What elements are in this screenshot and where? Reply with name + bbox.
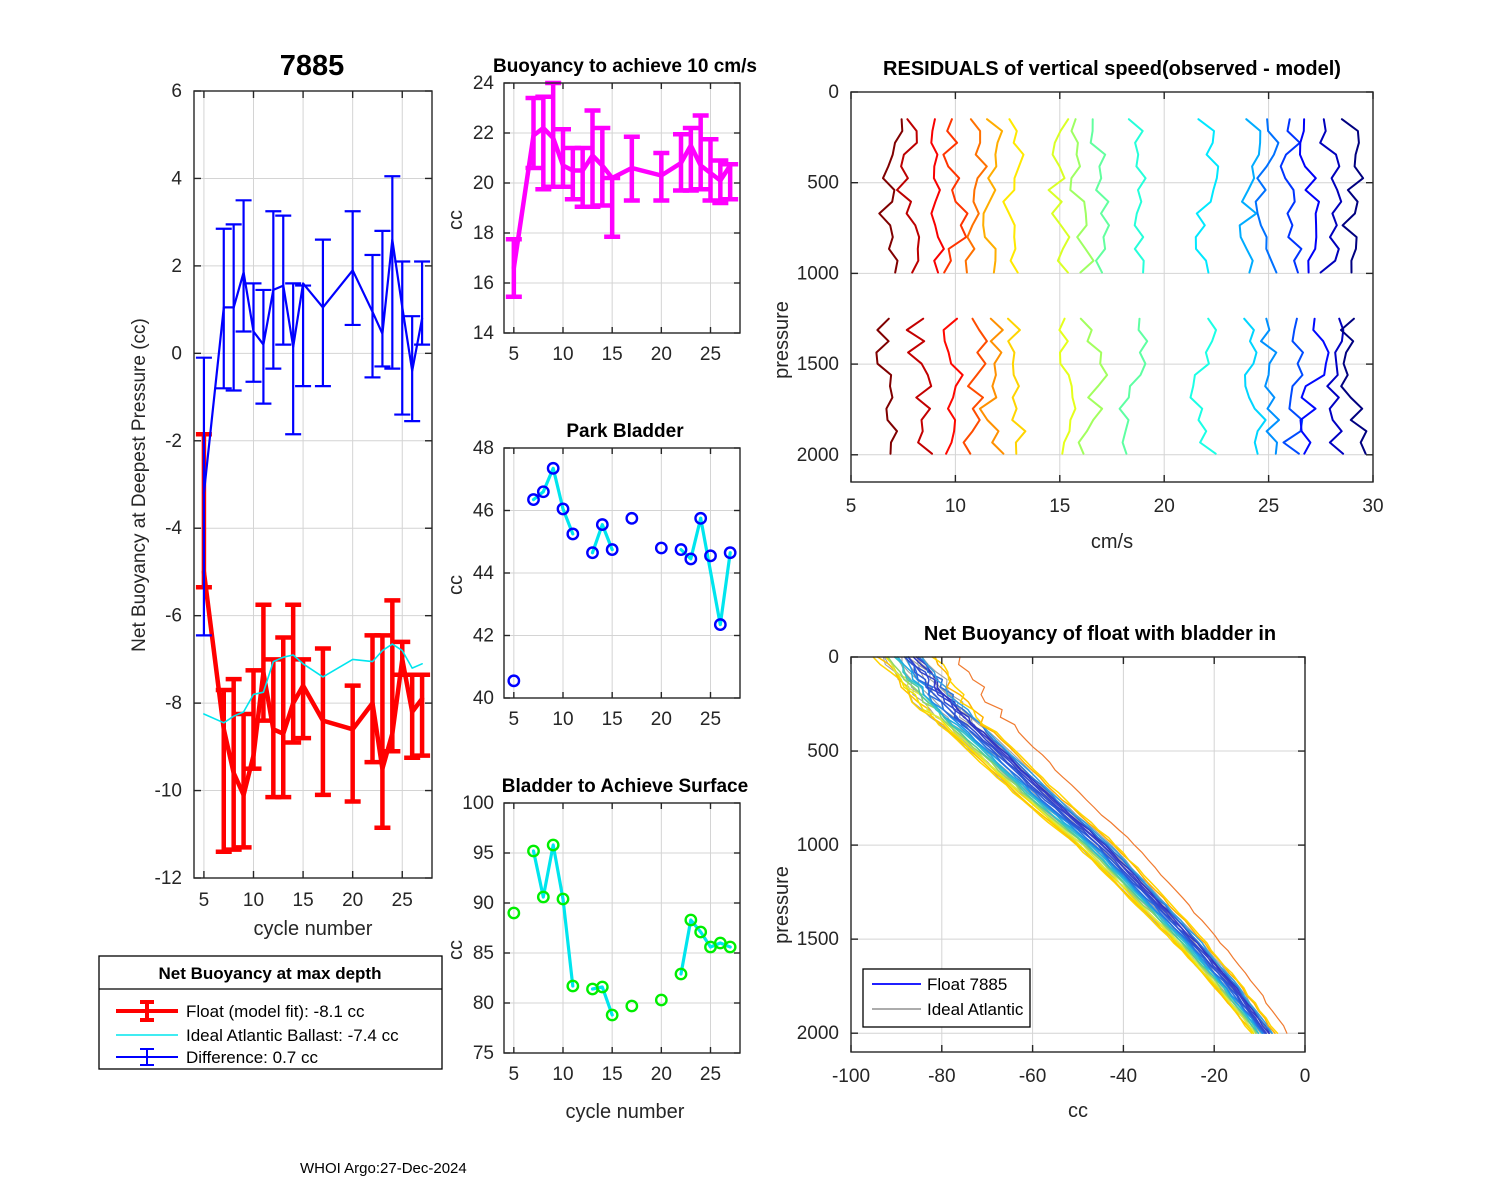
residual-profile-descent	[1003, 119, 1023, 272]
svg-text:25: 25	[700, 1064, 721, 1085]
errorbar-difference	[374, 231, 390, 367]
legend-title: Net Buoyancy at max depth	[159, 964, 382, 983]
line-float-model-fit	[204, 572, 422, 795]
panel-net-buoyancy-bladder-in: Net Buoyancy of float with bladder in -1…	[760, 615, 1420, 1145]
residual-profile-ascent	[964, 319, 987, 454]
panel-net-buoyancy-deepest: 7885 510152025-12-10-8-6-4-20246 cycle n…	[0, 0, 460, 1100]
svg-text:10: 10	[243, 890, 264, 911]
panel-buoyancy-10cms: Buoyancy to achieve 10 cm/s 510152025141…	[440, 50, 770, 390]
svg-text:40: 40	[473, 688, 494, 709]
residual-profile-ascent	[907, 319, 932, 454]
svg-text:-100: -100	[832, 1066, 870, 1087]
panel-residuals: RESIDUALS of vertical speed(observed - m…	[760, 50, 1420, 570]
svg-text:-10: -10	[155, 781, 182, 802]
svg-text:42: 42	[473, 626, 494, 647]
svg-text:44: 44	[473, 563, 495, 584]
legend-label-nb-1: Ideal Atlantic	[927, 1000, 1024, 1019]
residual-profile-descent	[1240, 119, 1261, 272]
svg-text:16: 16	[473, 273, 494, 294]
title-park-bladder: Park Bladder	[566, 421, 684, 442]
title-net-buoyancy-bladder-in: Net Buoyancy of float with bladder in	[924, 623, 1276, 645]
svg-text:500: 500	[807, 741, 839, 762]
residual-profile-descent	[1300, 119, 1319, 272]
svg-text:100: 100	[462, 793, 494, 814]
svg-text:5: 5	[509, 344, 520, 365]
legend-label-difference: Difference: 0.7 cc	[186, 1048, 318, 1067]
errorbar-difference	[315, 240, 331, 386]
svg-text:-2: -2	[165, 431, 182, 452]
panel-bladder-surface: Bladder to Achieve Surface 5101520257580…	[440, 770, 770, 1140]
errorbar-buoyancy	[555, 129, 571, 187]
svg-text:-20: -20	[1200, 1066, 1227, 1087]
legend-net-buoyancy-max-depth: Net Buoyancy at max depth Float (model f…	[98, 955, 443, 1070]
svg-text:6: 6	[171, 81, 182, 102]
svg-text:10: 10	[552, 344, 573, 365]
svg-text:-4: -4	[165, 518, 182, 539]
x-axis-label-residuals: cm/s	[1091, 531, 1133, 553]
title-bladder-surface: Bladder to Achieve Surface	[502, 776, 748, 797]
data-point-park_bladder	[627, 513, 637, 523]
legend-label-float: Float (model fit): -8.1 cc	[186, 1002, 365, 1021]
residual-profile-ascent	[1284, 319, 1304, 454]
residual-profile-ascent	[980, 319, 1004, 454]
svg-text:4: 4	[171, 168, 182, 189]
residual-profile-descent	[983, 119, 1002, 272]
svg-text:10: 10	[552, 709, 573, 730]
residual-profile-ascent	[1301, 319, 1329, 454]
svg-text:-6: -6	[165, 606, 182, 627]
y-axis-label-residuals: pressure	[771, 301, 793, 379]
residual-profile-descent	[1196, 119, 1218, 272]
svg-text:22: 22	[473, 123, 494, 144]
y-axis-label-nb: pressure	[771, 866, 793, 944]
residual-profile-ascent	[1059, 319, 1075, 454]
svg-text:85: 85	[473, 943, 494, 964]
y-axis-label-left: Net Buoyancy at Deepest Pressure (cc)	[129, 318, 150, 652]
x-axis-label-nb: cc	[1068, 1100, 1088, 1122]
svg-text:15: 15	[293, 890, 314, 911]
footer-text: WHOI Argo:27-Dec-2024	[300, 1160, 467, 1177]
footer-credit: WHOI Argo:27-Dec-2024	[300, 1160, 700, 1190]
residual-profile-descent	[931, 119, 944, 272]
svg-text:2000: 2000	[797, 1023, 839, 1044]
residual-profile-descent	[1129, 119, 1146, 272]
line-park_bladder	[701, 518, 731, 624]
svg-text:20: 20	[651, 709, 672, 730]
svg-text:15: 15	[602, 709, 623, 730]
residual-profile-descent	[1256, 119, 1279, 272]
residual-profile-ascent	[1008, 319, 1025, 454]
svg-text:90: 90	[473, 893, 494, 914]
svg-text:15: 15	[602, 1064, 623, 1085]
svg-text:10: 10	[945, 496, 966, 517]
svg-text:25: 25	[1258, 496, 1279, 517]
svg-text:-8: -8	[165, 693, 182, 714]
legend-label-ideal: Ideal Atlantic Ballast: -7.4 cc	[186, 1026, 399, 1045]
x-axis-label-left: cycle number	[254, 918, 373, 940]
errorbar-difference	[196, 358, 212, 636]
svg-text:25: 25	[392, 890, 413, 911]
residual-profile-ascent	[1341, 319, 1366, 454]
residual-profile-ascent	[876, 319, 897, 454]
svg-text:5: 5	[509, 1064, 520, 1085]
legend-label-nb-0: Float 7885	[927, 975, 1007, 994]
svg-text:-80: -80	[928, 1066, 955, 1087]
svg-text:2: 2	[171, 256, 182, 277]
svg-text:25: 25	[700, 709, 721, 730]
svg-text:1500: 1500	[797, 929, 839, 950]
errorbar-buoyancy	[535, 97, 551, 190]
errorbar-float	[414, 675, 430, 756]
svg-text:0: 0	[828, 82, 839, 103]
svg-text:20: 20	[651, 1064, 672, 1085]
svg-text:0: 0	[1300, 1066, 1311, 1087]
svg-text:75: 75	[473, 1043, 494, 1064]
svg-text:-12: -12	[155, 868, 182, 889]
title-residuals: RESIDUALS of vertical speed(observed - m…	[883, 58, 1341, 80]
residual-profile-ascent	[1261, 319, 1279, 454]
svg-text:20: 20	[473, 173, 494, 194]
errorbar-difference	[295, 286, 311, 387]
errorbar-difference	[414, 262, 430, 345]
svg-text:46: 46	[473, 501, 494, 522]
svg-text:5: 5	[846, 496, 857, 517]
svg-text:5: 5	[199, 890, 210, 911]
svg-text:80: 80	[473, 993, 494, 1014]
svg-text:15: 15	[602, 344, 623, 365]
line-ideal-atlantic-ballast	[204, 644, 422, 723]
y-axis-label-mid1: cc	[445, 210, 467, 230]
x-axis-label-mid3: cycle number	[566, 1101, 685, 1123]
residual-profile-descent	[1049, 119, 1070, 272]
svg-text:10: 10	[552, 1064, 573, 1085]
residual-profile-ascent	[1079, 319, 1107, 454]
svg-text:15: 15	[1049, 496, 1070, 517]
title-buoyancy-10cms: Buoyancy to achieve 10 cm/s	[493, 56, 757, 77]
residual-profile-descent	[897, 119, 919, 272]
svg-text:500: 500	[807, 173, 839, 194]
residual-profile-descent	[879, 119, 902, 272]
residual-profile-descent	[966, 119, 987, 272]
svg-text:1000: 1000	[797, 263, 839, 284]
svg-text:25: 25	[700, 344, 721, 365]
svg-text:20: 20	[342, 890, 363, 911]
residual-profile-descent	[1281, 119, 1302, 272]
errorbar-buoyancy	[565, 148, 581, 199]
errorbar-difference	[365, 255, 381, 377]
svg-text:5: 5	[509, 709, 520, 730]
svg-text:18: 18	[473, 223, 494, 244]
legend-item-difference[interactable]: Difference: 0.7 cc	[116, 1048, 318, 1067]
residual-profile-descent	[1091, 119, 1109, 272]
svg-text:95: 95	[473, 843, 494, 864]
y-axis-label-mid2: cc	[445, 575, 467, 595]
residual-profile-ascent	[1191, 319, 1217, 454]
data-point-bladder_surface	[627, 1001, 637, 1011]
svg-text:2000: 2000	[797, 445, 839, 466]
panel-park-bladder: Park Bladder 5101520254042444648 cc	[440, 415, 770, 755]
residual-profile-descent	[1342, 119, 1363, 272]
page-title: 7885	[280, 50, 345, 82]
svg-text:-60: -60	[1019, 1066, 1046, 1087]
svg-text:-40: -40	[1110, 1066, 1137, 1087]
errorbar-difference	[255, 290, 271, 404]
svg-text:30: 30	[1362, 496, 1383, 517]
svg-text:1000: 1000	[797, 835, 839, 856]
residual-profile-ascent	[1120, 319, 1148, 454]
errorbar-difference	[345, 211, 361, 325]
svg-text:14: 14	[473, 323, 495, 344]
svg-text:20: 20	[1154, 496, 1175, 517]
y-axis-label-mid3: cc	[445, 940, 467, 960]
svg-text:0: 0	[171, 343, 182, 364]
line-buoyancy-10cms	[514, 128, 730, 268]
svg-text:1500: 1500	[797, 354, 839, 375]
svg-text:48: 48	[473, 438, 494, 459]
residual-profile-ascent	[944, 319, 963, 454]
svg-text:20: 20	[651, 344, 672, 365]
line-bladder_surface	[534, 845, 573, 986]
svg-text:0: 0	[828, 647, 839, 668]
residual-profile-descent	[1320, 119, 1341, 272]
svg-text:24: 24	[473, 73, 495, 94]
